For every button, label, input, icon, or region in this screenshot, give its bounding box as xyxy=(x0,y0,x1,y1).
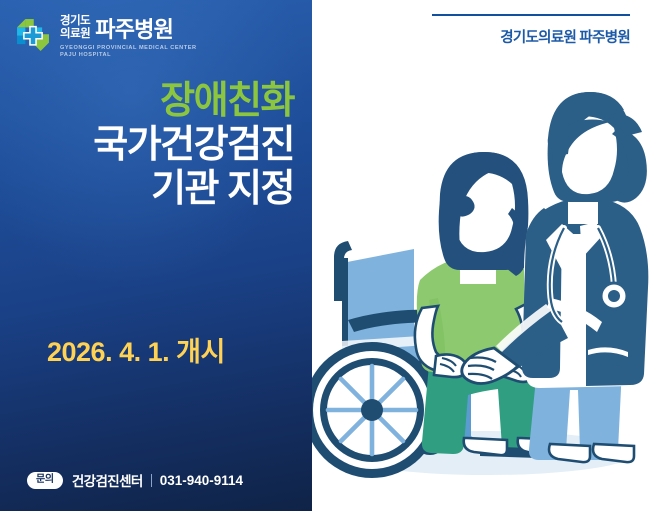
left-blue-panel: 경기도 의료원 파주병원 GYEONGGI PROVINCIAL MEDICAL… xyxy=(0,0,312,511)
logo-kr-small-stack: 경기도 의료원 xyxy=(60,16,90,41)
poster-canvas: 경기도 의료원 파주병원 GYEONGGI PROVINCIAL MEDICAL… xyxy=(0,0,650,511)
logo-kr-small-line1: 경기도 xyxy=(60,16,90,28)
hospital-logo: 경기도 의료원 파주병원 GYEONGGI PROVINCIAL MEDICAL… xyxy=(14,15,197,59)
contact-phone-number: 031-940-9114 xyxy=(160,473,243,488)
logo-en-block: GYEONGGI PROVINCIAL MEDICAL CENTER PAJU … xyxy=(60,45,197,59)
logo-kr-small-line2: 의료원 xyxy=(60,29,90,41)
inquiry-badge: 문의 xyxy=(27,472,63,489)
doctor-and-wheelchair-patient-illustration xyxy=(312,58,650,511)
right-header-block: 경기도의료원 파주병원 xyxy=(432,14,630,47)
footer-divider xyxy=(151,474,152,487)
headline-block: 장애친화 국가건강검진 기관 지정 xyxy=(93,82,294,208)
header-rule-divider xyxy=(432,14,630,16)
logo-en-line2: PAJU HOSPITAL xyxy=(60,52,197,59)
footer-contact-bar: 문의 건강검진센터 031-940-9114 xyxy=(27,470,243,490)
headline-line-1: 장애친화 xyxy=(93,82,294,120)
logo-text-block: 경기도 의료원 파주병원 GYEONGGI PROVINCIAL MEDICAL… xyxy=(60,15,197,59)
hospital-name-header: 경기도의료원 파주병원 xyxy=(432,26,630,47)
headline-line-3: 기관 지정 xyxy=(93,170,294,208)
logo-en-line1: GYEONGGI PROVINCIAL MEDICAL CENTER xyxy=(60,45,197,52)
headline-line-2: 국가건강검진 xyxy=(93,126,294,164)
logo-kr-main: 파주병원 xyxy=(95,19,173,41)
right-white-panel: 경기도의료원 파주병원 xyxy=(312,0,650,511)
start-date-text: 2026. 4. 1. 개시 xyxy=(47,330,225,369)
logo-title-row: 경기도 의료원 파주병원 xyxy=(60,16,197,41)
health-screening-center-label: 건강검진센터 xyxy=(72,470,143,490)
medical-cross-logo-icon xyxy=(14,16,52,54)
